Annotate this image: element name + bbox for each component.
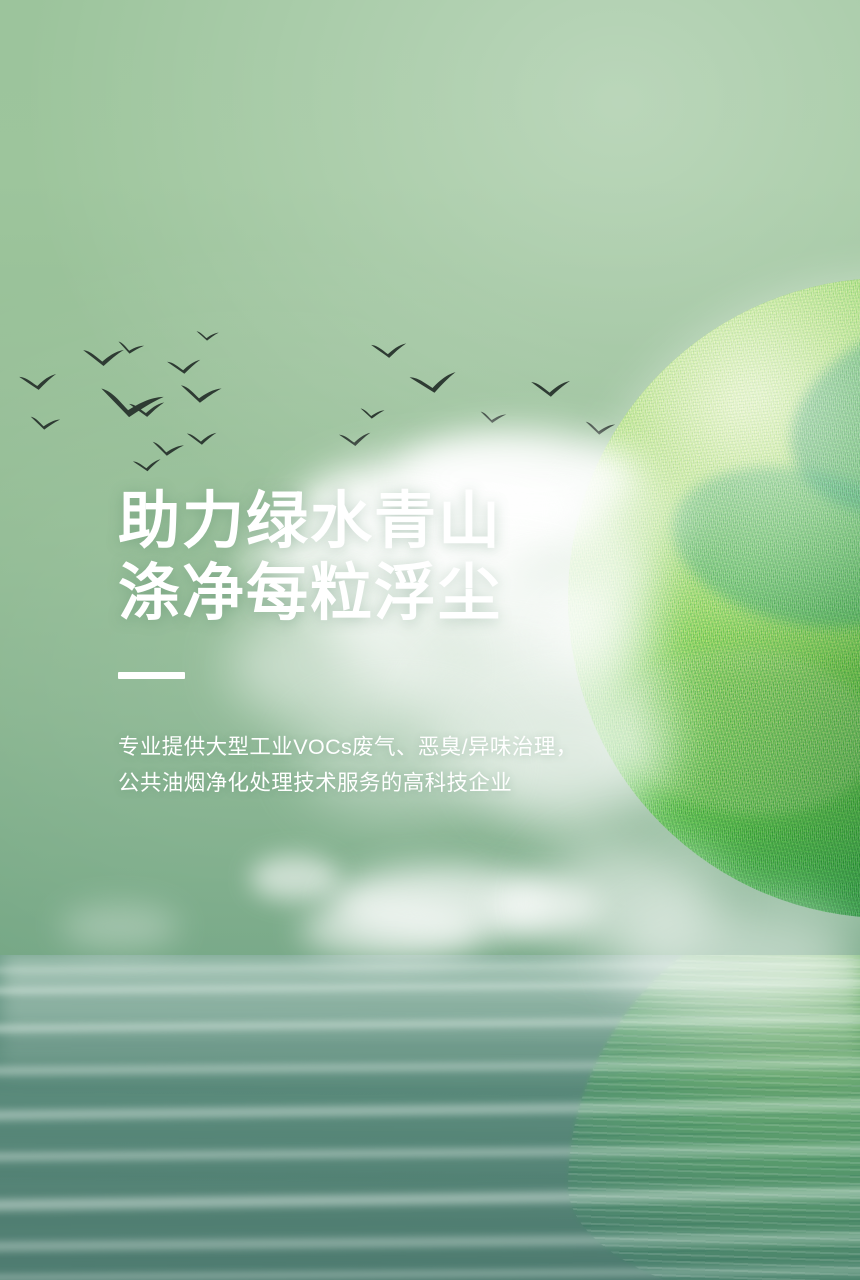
mist-low (300, 900, 480, 960)
bird-icon (179, 383, 224, 411)
bird-icon (584, 420, 617, 441)
water-ripple-line (0, 1263, 860, 1280)
headline-line-1: 助力绿水青山 (118, 486, 778, 558)
bird-icon (370, 340, 409, 364)
subtitle-line-1: 专业提供大型工业VOCs废气、恶臭/异味治理， (118, 729, 778, 765)
bird-icon (196, 330, 220, 345)
mist-low (60, 905, 180, 949)
subtitle-line-2: 公共油烟净化处理技术服务的高科技企业 (118, 765, 778, 801)
bird-icon (479, 410, 508, 428)
bird-icon (186, 430, 219, 450)
bird-icon (18, 371, 60, 398)
water-ripple-line (0, 1129, 860, 1141)
divider-rule (118, 672, 185, 679)
bird-icon (29, 415, 62, 436)
bird-icon (150, 440, 186, 462)
mist-low (250, 855, 340, 901)
bird-icon (166, 357, 204, 381)
headline-line-2: 涤净每粒浮尘 (118, 558, 778, 630)
bird-icon (338, 430, 374, 452)
bird-icon (128, 399, 167, 423)
bird-icon (359, 407, 386, 423)
eco-poster: 助力绿水青山 涤净每粒浮尘 专业提供大型工业VOCs废气、恶臭/异味治理， 公共… (0, 0, 860, 1280)
text-content-block: 助力绿水青山 涤净每粒浮尘 专业提供大型工业VOCs废气、恶臭/异味治理， 公共… (118, 486, 778, 801)
bird-icon (530, 378, 573, 404)
bird-icon (408, 368, 462, 403)
water-ripple-line (0, 1215, 860, 1228)
mist-globe-base (620, 900, 860, 1010)
